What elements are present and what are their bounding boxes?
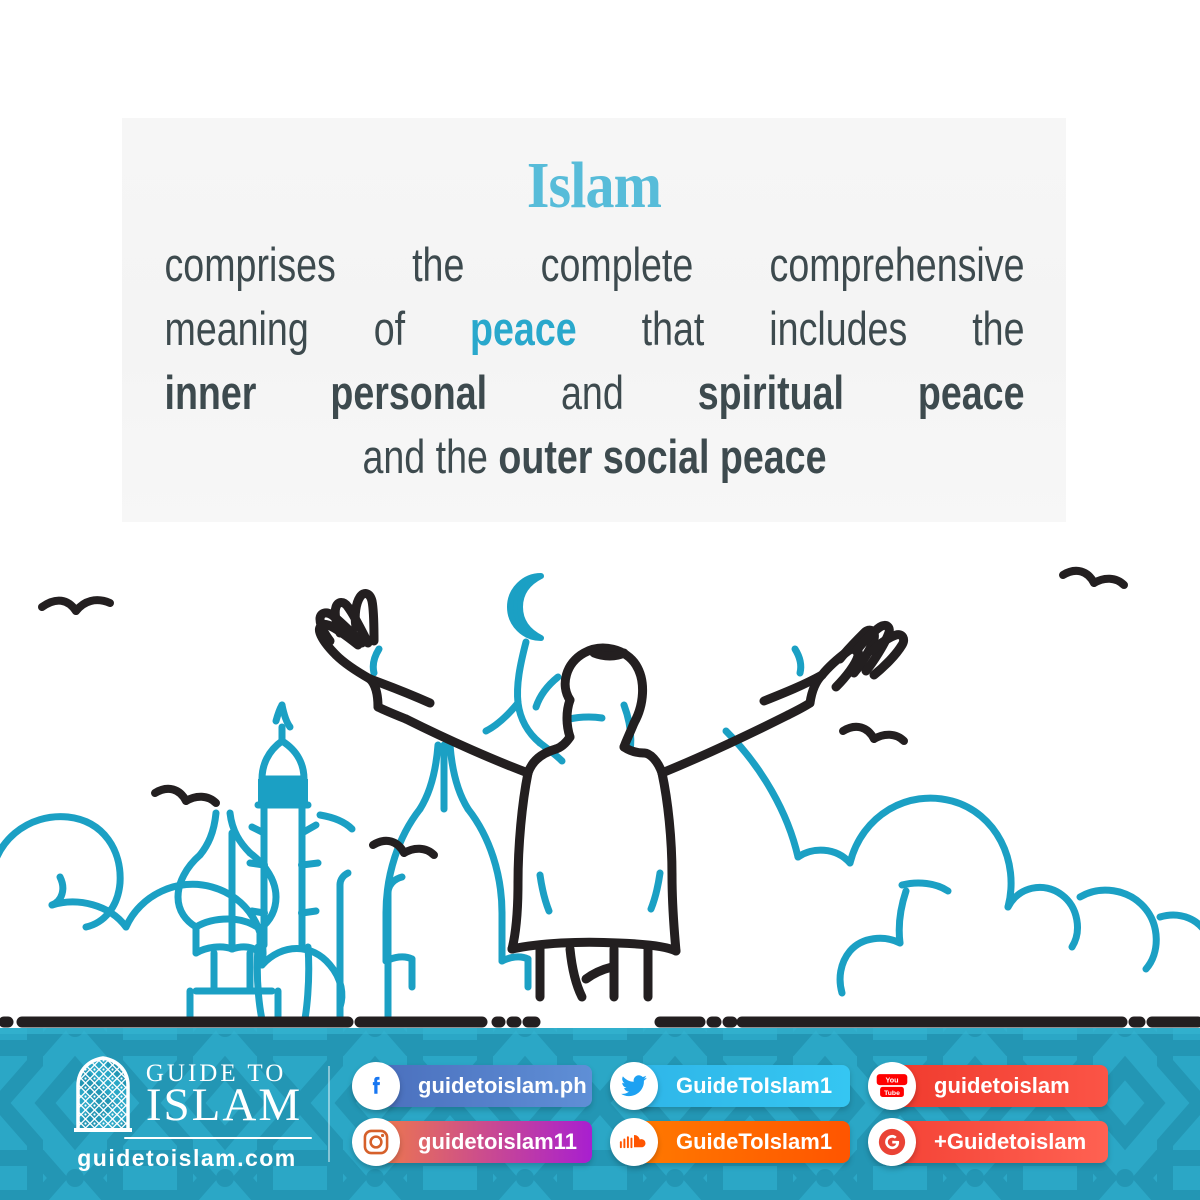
social-pill[interactable]: guidetoislam11 bbox=[374, 1121, 592, 1163]
svg-text:You: You bbox=[885, 1076, 898, 1085]
social-handle: +Guidetoislam bbox=[934, 1129, 1086, 1155]
quote-fragment: inner personal bbox=[164, 366, 487, 419]
bird-5 bbox=[1063, 571, 1124, 585]
footer-divider bbox=[328, 1066, 330, 1162]
brand-wordmark: GUIDE TO ISLAM bbox=[146, 1061, 302, 1129]
quote-line: inner personal and spiritual peace bbox=[164, 361, 1024, 425]
mosque-column bbox=[340, 873, 402, 1025]
crescent-moon-icon bbox=[486, 576, 562, 761]
google-plus-icon[interactable] bbox=[868, 1118, 916, 1166]
quote-fragment: and bbox=[487, 366, 698, 419]
bird-1 bbox=[42, 600, 110, 611]
quote-fragment: peace bbox=[470, 302, 577, 355]
social-pill[interactable]: GuideToIslam1 bbox=[632, 1065, 850, 1107]
bird-4 bbox=[843, 727, 904, 741]
social-link-googleplus[interactable]: +Guidetoislam bbox=[868, 1121, 1126, 1163]
brand-line-2: ISLAM bbox=[146, 1082, 302, 1129]
youtube-icon[interactable]: YouTube bbox=[868, 1062, 916, 1110]
brand-logo[interactable]: GUIDE TO ISLAM guidetoislam.com bbox=[62, 1056, 312, 1172]
quote-fragment: and the bbox=[362, 430, 498, 483]
footer: GUIDE TO ISLAM guidetoislam.com guidetoi… bbox=[0, 1028, 1200, 1200]
quote-fragment: outer social peace bbox=[498, 430, 826, 483]
person-legs bbox=[540, 949, 648, 997]
figure-teal-accents bbox=[373, 649, 801, 911]
social-pill[interactable]: guidetoislam.ph bbox=[374, 1065, 592, 1107]
person-hand-left bbox=[319, 594, 374, 655]
twitter-icon[interactable] bbox=[610, 1062, 658, 1110]
soundcloud-icon[interactable] bbox=[610, 1118, 658, 1166]
social-link-facebook[interactable]: guidetoislam.ph bbox=[352, 1065, 610, 1107]
quote-fragment: comprises the complete comprehensive bbox=[164, 238, 1024, 291]
social-handle: guidetoislam.ph bbox=[418, 1073, 587, 1099]
social-pill[interactable]: +Guidetoislam bbox=[890, 1121, 1108, 1163]
person-arm-right bbox=[662, 675, 822, 773]
person-torso bbox=[512, 749, 676, 951]
person-head bbox=[565, 648, 642, 747]
poster: Islam comprises the complete comprehensi… bbox=[0, 0, 1200, 1200]
social-handle: GuideToIslam1 bbox=[676, 1129, 832, 1155]
instagram-icon[interactable] bbox=[352, 1118, 400, 1166]
brand-top: GUIDE TO ISLAM bbox=[72, 1056, 302, 1134]
quote-line: and the outer social peace bbox=[164, 425, 1024, 489]
social-handle: guidetoislam11 bbox=[418, 1129, 577, 1155]
quote-line: meaning of peace that includes the bbox=[164, 297, 1024, 361]
cloud-left bbox=[0, 817, 342, 1007]
svg-text:Tube: Tube bbox=[884, 1090, 900, 1097]
quote-body: comprises the complete comprehensivemean… bbox=[164, 233, 1024, 489]
quote-card: Islam comprises the complete comprehensi… bbox=[122, 118, 1066, 522]
person-hand-right bbox=[822, 625, 904, 687]
facebook-icon[interactable] bbox=[352, 1062, 400, 1110]
quote-fragment: spiritual peace bbox=[697, 366, 1024, 419]
social-link-instagram[interactable]: guidetoislam11 bbox=[352, 1121, 610, 1163]
illustration bbox=[0, 545, 1200, 1025]
quote-fragment: that includes the bbox=[576, 302, 1024, 355]
social-handle: guidetoislam bbox=[934, 1073, 1070, 1099]
quote-title: Islam bbox=[216, 152, 973, 219]
quote-line: comprises the complete comprehensive bbox=[164, 233, 1024, 297]
ground-line bbox=[0, 1016, 1200, 1028]
social-pill[interactable]: GuideToIslam1 bbox=[632, 1121, 850, 1163]
brand-url[interactable]: guidetoislam.com bbox=[77, 1145, 297, 1172]
teal-arc-right bbox=[726, 731, 798, 857]
bird-2 bbox=[155, 789, 216, 803]
social-pill[interactable]: guidetoislam bbox=[890, 1065, 1108, 1107]
mosque-arch-icon bbox=[72, 1056, 134, 1134]
social-link-youtube[interactable]: guidetoislamYouTube bbox=[868, 1065, 1126, 1107]
person-arm-left bbox=[336, 655, 528, 773]
mosque-dome bbox=[386, 745, 528, 987]
social-link-soundcloud[interactable]: GuideToIslam1 bbox=[610, 1121, 868, 1163]
quote-fragment: meaning of bbox=[164, 302, 470, 355]
cloud-right bbox=[798, 798, 1200, 993]
social-links: guidetoislam.phGuideToIslam1guidetoislam… bbox=[352, 1065, 1126, 1163]
social-link-twitter[interactable]: GuideToIslam1 bbox=[610, 1065, 868, 1107]
brand-divider-rule bbox=[124, 1137, 312, 1139]
social-handle: GuideToIslam1 bbox=[676, 1073, 832, 1099]
